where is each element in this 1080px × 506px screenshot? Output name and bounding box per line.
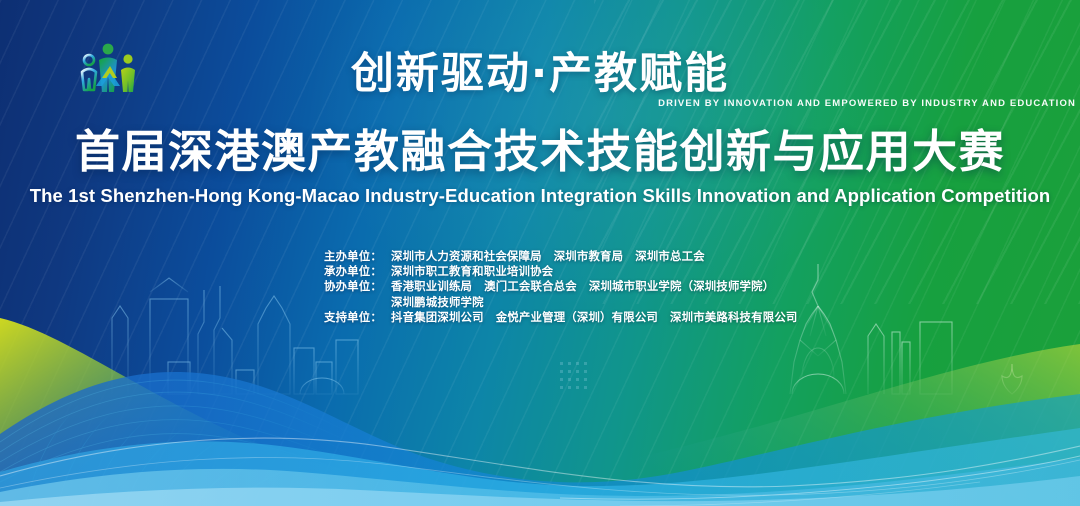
organizer-name: 深圳市美路科技有限公司 [670, 310, 798, 324]
organizer-label: 支持单位： [324, 310, 391, 325]
slogan-block: 创新驱动·产教赋能 DRIVEN BY INNOVATION AND EMPOW… [0, 52, 1080, 109]
organizer-name: 深圳鹏城技师学院 [391, 295, 484, 309]
organizer-name: 深圳城市职业学院（深圳技师学院） [589, 279, 774, 293]
organizer-row: 主办单位：深圳市人力资源和社会保障局深圳市教育局深圳市总工会 [324, 249, 798, 264]
page-title: 首届深港澳产教融合技术技能创新与应用大赛 [0, 128, 1080, 176]
organizer-values: 深圳市职工教育和职业培训协会 [391, 264, 553, 279]
organizer-row: 承办单位：深圳市职工教育和职业培训协会 [324, 264, 798, 279]
organizer-name: 抖音集团深圳公司 [391, 310, 484, 324]
organizer-name: 深圳市总工会 [635, 249, 705, 263]
organizer-name: 金悦产业管理（深圳）有限公司 [496, 310, 658, 324]
organizer-values: 香港职业训练局澳门工会联合总会深圳城市职业学院（深圳技师学院） [391, 279, 774, 294]
slogan-cn: 创新驱动·产教赋能 [351, 52, 729, 97]
organizer-values: 抖音集团深圳公司金悦产业管理（深圳）有限公司深圳市美路科技有限公司 [391, 310, 798, 325]
organizer-values: 深圳鹏城技师学院 [391, 295, 484, 310]
organizer-name: 香港职业训练局 [391, 279, 472, 293]
organizer-label: 协办单位： [324, 279, 391, 294]
event-banner: 创新驱动·产教赋能 DRIVEN BY INNOVATION AND EMPOW… [0, 0, 1080, 506]
organizer-name: 深圳市人力资源和社会保障局 [391, 249, 542, 263]
organizer-row: 协办单位：香港职业训练局澳门工会联合总会深圳城市职业学院（深圳技师学院） [324, 279, 798, 294]
organizer-name: 澳门工会联合总会 [484, 279, 577, 293]
organizer-values: 深圳市人力资源和社会保障局深圳市教育局深圳市总工会 [391, 249, 705, 264]
organizer-row: 支持单位：抖音集团深圳公司金悦产业管理（深圳）有限公司深圳市美路科技有限公司 [324, 310, 798, 325]
organizer-row: 深圳鹏城技师学院 [324, 295, 798, 310]
title-block: 首届深港澳产教融合技术技能创新与应用大赛 The 1st Shenzhen-Ho… [0, 128, 1080, 207]
organizer-name: 深圳市教育局 [554, 249, 624, 263]
organizer-label: 承办单位： [324, 264, 391, 279]
organizer-list: 主办单位：深圳市人力资源和社会保障局深圳市教育局深圳市总工会承办单位：深圳市职工… [324, 249, 798, 325]
organizer-label: 主办单位： [324, 249, 391, 264]
page-subtitle: The 1st Shenzhen-Hong Kong-Macao Industr… [0, 185, 1080, 207]
slogan-en: DRIVEN BY INNOVATION AND EMPOWERED BY IN… [0, 98, 1080, 109]
organizer-label [324, 295, 391, 310]
organizer-name: 深圳市职工教育和职业培训协会 [391, 264, 553, 278]
